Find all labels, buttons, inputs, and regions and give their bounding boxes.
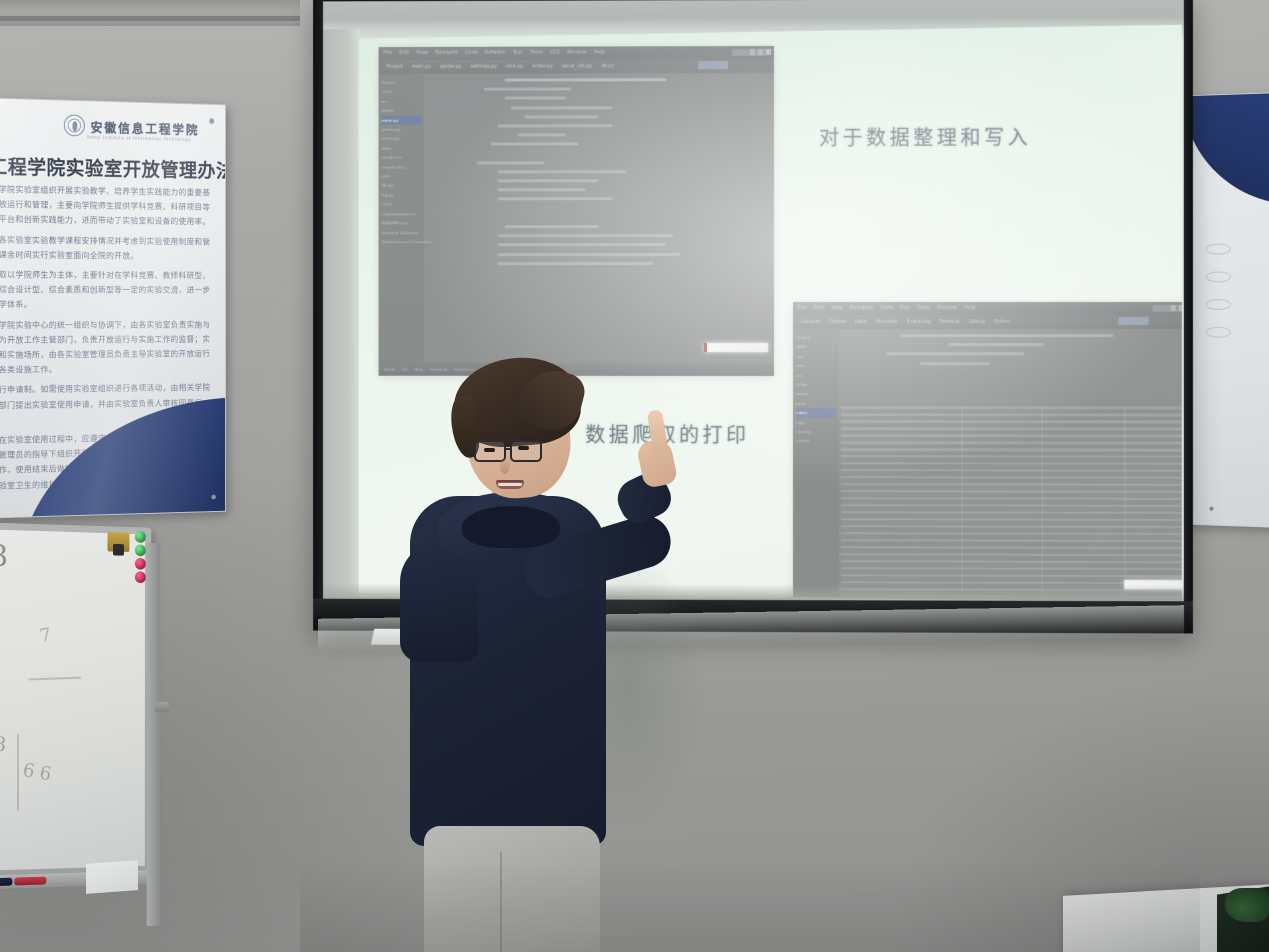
- code-line: [498, 198, 613, 201]
- menu-edit: Edit: [399, 51, 409, 56]
- presenter-nose: [500, 456, 510, 474]
- code-line: [484, 88, 572, 91]
- code-line: [518, 133, 565, 136]
- code-editor-area: [424, 73, 774, 363]
- console-row: [841, 504, 1184, 507]
- console-row: [841, 483, 1184, 486]
- tab-settings: settings.py: [471, 64, 497, 69]
- code-line: [491, 143, 579, 146]
- console-row: [841, 532, 1184, 535]
- whiteboard-writing: 7: [38, 624, 52, 647]
- poster-title: 与软件工程学院实验室开放管理办法: [0, 149, 226, 183]
- university-seal-icon: [64, 114, 85, 136]
- hoodie-hood-opening: [462, 506, 560, 548]
- whiteboard-writing: 6 6: [21, 759, 53, 785]
- console-menubar: File Edit View Navigate Code Run Tools W…: [793, 302, 1184, 315]
- poster-paragraph: 实验室开放工作在学院实验中心的统一组织与协调下，由各实验室负责实施与管理。实验中…: [0, 317, 218, 378]
- presenter-eye-left: [484, 448, 495, 452]
- bullet-ring-icon: [1206, 271, 1231, 282]
- presenter-mouth: [496, 480, 524, 489]
- console-row: [841, 434, 1184, 437]
- wall-paper-scrap: [86, 860, 138, 894]
- whiteboard: 9 4 8 7 2 0 15 8 6 6: [0, 520, 151, 880]
- poster-paragraph: 计算机与软件工程学院实验室组织开展实验教学、培养学生实践能力的重要基地。实验室实…: [0, 181, 218, 230]
- code-line: [498, 234, 674, 237]
- magnet-green-icon: [135, 531, 146, 543]
- poster-paragraph: 实验室开放形式采取以学院师生为主体，主要针对在学科竞赛、教师科研型、学生科技活动…: [0, 267, 218, 313]
- console-row: [841, 462, 1184, 465]
- poster-right-navy-corner: [1189, 92, 1269, 207]
- console-row: [841, 546, 1184, 549]
- tab-event-log: Event Log: [907, 320, 931, 325]
- whiteboard-stand-post: [147, 543, 161, 926]
- menu-view: View: [416, 51, 428, 56]
- console-row: [841, 574, 1184, 578]
- tab-console: Console: [801, 320, 820, 325]
- marker-red: [14, 877, 46, 886]
- code-editor-menubar: File Edit View Navigate Code Refactor Ru…: [379, 46, 774, 60]
- tree-item: requirements.txt: [382, 209, 422, 218]
- tree-item: col: [796, 371, 836, 380]
- code-line: [498, 262, 653, 265]
- tree-item-selected: index: [796, 408, 836, 417]
- menu-help: Help: [964, 306, 976, 311]
- code-line: [498, 170, 626, 173]
- console-row: [841, 560, 1184, 564]
- tree-item-selected: main.py: [382, 115, 422, 124]
- tree-item: venv: [382, 87, 422, 96]
- bullet-ring-icon: [1206, 327, 1231, 338]
- tree-item: Project: [382, 78, 422, 87]
- console-row: [841, 469, 1184, 472]
- tree-item: name: [796, 389, 836, 398]
- ceiling-rail: [0, 0, 300, 26]
- tree-item: export: [796, 437, 836, 446]
- run-configuration-button: [698, 61, 728, 69]
- slide-screenshot-console-output: File Edit View Navigate Code Run Tools W…: [793, 302, 1184, 601]
- tree-item: result.csv: [382, 153, 422, 162]
- menu-run: Run: [900, 306, 910, 311]
- whiteboard-clip-icon: [108, 532, 130, 552]
- trouser-seam: [500, 852, 502, 952]
- tree-item: External Libraries: [382, 228, 422, 237]
- console-row: [841, 427, 1184, 430]
- tree-item: Scratches and Consoles: [382, 237, 422, 246]
- tree-item: src: [382, 97, 422, 106]
- console-line: [948, 343, 1044, 346]
- run-configuration-button: [1118, 317, 1148, 325]
- menu-help: Help: [594, 50, 606, 55]
- tree-item: tests: [382, 200, 422, 209]
- screen-frame-left: [313, 0, 323, 631]
- code-line: [498, 243, 667, 246]
- code-line: [524, 115, 598, 118]
- presenter-eye-right: [518, 446, 529, 450]
- whiteboard-writing: 9 4 8: [0, 537, 14, 574]
- code-line: [498, 179, 599, 182]
- console-row: [841, 518, 1184, 521]
- code-line: [504, 78, 666, 81]
- whiteboard-adjust-knob: [155, 702, 169, 713]
- menu-code: Code: [880, 306, 893, 311]
- console-row: [841, 567, 1184, 571]
- tab-project: Project: [386, 64, 402, 69]
- console-row: [841, 539, 1184, 542]
- presenter-trousers: [424, 826, 600, 952]
- tab-main: main.py: [412, 64, 431, 69]
- whiteboard-stroke: [28, 677, 80, 680]
- eyeglasses-bridge: [505, 448, 512, 450]
- menu-edit: Edit: [814, 306, 824, 311]
- tree-item: README.md: [382, 218, 422, 227]
- console-row: [841, 448, 1184, 451]
- tree-item: row: [796, 361, 836, 370]
- whiteboard-frame: 9 4 8 7 2 0 15 8 6 6: [0, 520, 151, 880]
- magnet-pink-icon: [135, 558, 146, 570]
- tree-item: fields: [796, 380, 836, 389]
- menu-code: Code: [465, 51, 478, 56]
- tab-data: Data: [855, 320, 866, 325]
- bullet-ring-icon: [1206, 244, 1231, 255]
- foreground-plant: [1225, 888, 1269, 922]
- editor-notification-bar: [704, 343, 768, 352]
- console-row: [841, 553, 1184, 556]
- console-line: [900, 334, 1113, 337]
- console-row: [841, 413, 1184, 416]
- menu-tools: Tools: [917, 306, 930, 311]
- tree-item: Output: [796, 333, 836, 342]
- tree-item: row: [796, 352, 836, 361]
- console-row: [841, 441, 1184, 444]
- presenter-left-shoulder: [400, 542, 478, 662]
- magnet-pink-icon: [135, 571, 146, 583]
- console-row: [841, 420, 1184, 423]
- code-line: [498, 188, 586, 191]
- tree-item: log.py: [382, 190, 422, 199]
- menu-view: View: [831, 306, 843, 311]
- poster-lab-management-rules: 安徽信息工程学院 Anhui Institute of Information …: [0, 96, 226, 520]
- poster-right-bullet-marks: [1206, 244, 1231, 355]
- tree-item: spider: [382, 106, 422, 115]
- search-input: [732, 49, 766, 56]
- status-build: Build: [384, 367, 394, 372]
- console-row: [841, 406, 1184, 409]
- tree-item: db.py: [382, 181, 422, 190]
- tab-python: Python: [994, 320, 1011, 325]
- tree-item: run.log: [796, 427, 836, 436]
- tab-excel-util: excel_util.py: [562, 64, 592, 69]
- tree-item: data: [382, 143, 422, 152]
- bullet-ring-icon: [1206, 299, 1231, 310]
- tab-terminal: Terminal: [940, 320, 960, 325]
- menu-file: File: [798, 306, 807, 311]
- console-tree-panel: Output table row row col fields name pri…: [793, 329, 839, 599]
- slide-screenshot-code-editor: File Edit View Navigate Code Refactor Ru…: [379, 46, 774, 376]
- code-line: [504, 225, 598, 228]
- menu-window: Window: [937, 306, 957, 311]
- screen-unlit-left-band: [323, 29, 361, 599]
- tab-spider: spider.py: [440, 64, 462, 69]
- project-tree-panel: Project venv src spider main.py parser.p…: [379, 74, 425, 363]
- whiteboard-magnets: [135, 531, 146, 585]
- poster-right-screw-icon: [1210, 507, 1214, 511]
- screen-unlit-top-band: [323, 0, 1184, 31]
- console-line: [920, 362, 989, 365]
- tab-debug: Debug: [969, 320, 985, 325]
- console-row: [841, 476, 1184, 479]
- menu-vcs: VCS: [550, 51, 560, 56]
- menu-navigate: Navigate: [850, 306, 873, 311]
- whiteboard-surface: 9 4 8 7 2 0 15 8 6 6: [0, 527, 145, 873]
- slide-label-top: 对于数据整理和写入: [819, 121, 1031, 150]
- tree-item: logs: [796, 418, 836, 427]
- poster-paragraph: 学院实验中心根据各实验室实验教学课程安排情况并考虑到实验使用制度和管理要求，充分…: [0, 232, 218, 264]
- tab-db: db.py: [601, 64, 614, 69]
- whiteboard-writing: 15 8: [0, 728, 7, 756]
- menu-file: File: [384, 51, 393, 56]
- search-input: [1153, 305, 1184, 312]
- code-line: [504, 97, 565, 100]
- classroom-scene: 安徽信息工程学院 Anhui Institute of Information …: [0, 0, 1269, 952]
- code-line: [511, 106, 612, 109]
- code-line: [477, 161, 544, 164]
- tab-structure: Structure: [875, 320, 897, 325]
- tree-item: output.xlsx: [382, 162, 422, 171]
- poster-right-partial: [1189, 92, 1269, 528]
- menu-refactor: Refactor: [485, 51, 507, 56]
- tree-item: writer.py: [382, 134, 422, 143]
- close-icon: [766, 49, 771, 55]
- tree-item: parser.py: [382, 125, 422, 134]
- console-output-rows: [841, 406, 1184, 597]
- eyeglasses-lens-right: [510, 440, 542, 462]
- tab-output: Output: [829, 320, 846, 325]
- tab-writer: writer.py: [532, 64, 553, 69]
- tree-item: price: [796, 399, 836, 408]
- screen-frame-right: [1184, 0, 1193, 633]
- code-line: [498, 124, 613, 127]
- code-line: [498, 253, 680, 256]
- poster-screw-icon: [209, 118, 214, 123]
- console-row: [841, 511, 1184, 514]
- tree-item: table: [796, 342, 836, 351]
- presenter: [404, 356, 704, 952]
- magnet-green-icon: [135, 544, 146, 556]
- console-row: [841, 490, 1184, 493]
- menu-navigate: Navigate: [435, 51, 458, 56]
- console-row: [841, 525, 1184, 528]
- menu-run: Run: [513, 51, 523, 56]
- console-line: [886, 352, 1023, 355]
- console-row: [841, 455, 1184, 458]
- console-row: [841, 497, 1184, 500]
- menu-window: Window: [567, 50, 587, 55]
- tab-utils: utils.py: [506, 64, 523, 69]
- whiteboard-stroke: [17, 734, 19, 811]
- menu-tools: Tools: [530, 51, 543, 56]
- tree-item: utils: [382, 172, 422, 181]
